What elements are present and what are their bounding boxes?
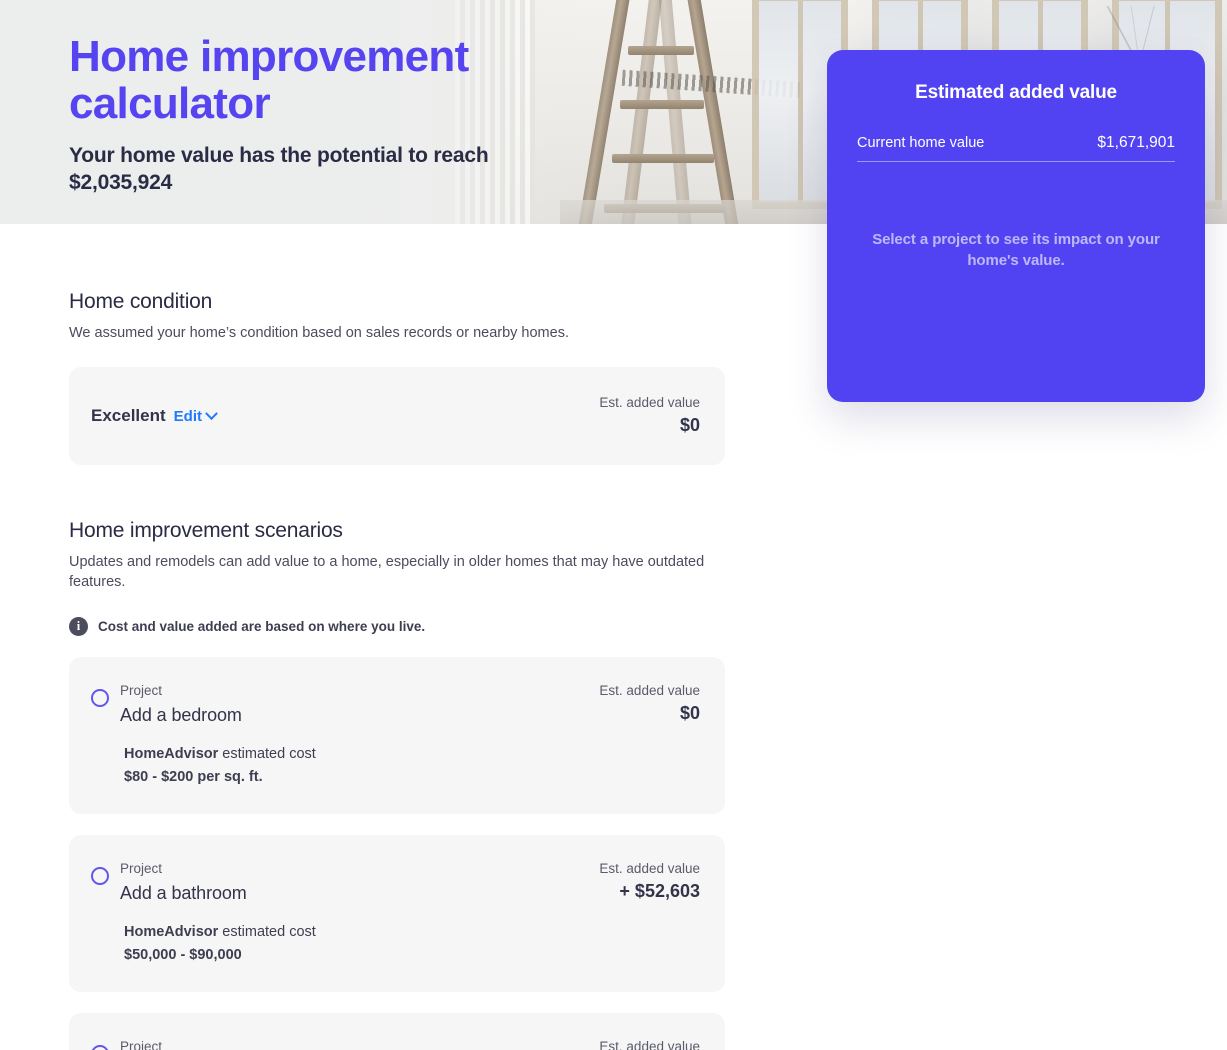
project-value-block: Est. added value $0 <box>599 683 700 724</box>
home-condition-value-block: Est. added value $0 <box>599 395 700 436</box>
project-identity: Project Add a bedroom <box>91 683 242 726</box>
est-added-value-label: Est. added value <box>599 1039 700 1050</box>
summary-empty-state-hint: Select a project to see its impact on yo… <box>857 229 1175 272</box>
edit-condition-label: Edit <box>174 408 202 425</box>
project-card[interactable]: Project Add a bathroom Est. added value … <box>69 835 725 992</box>
cost-source: HomeAdvisor <box>124 924 218 940</box>
home-improvement-calculator-page: Home improvement calculator Your home va… <box>0 0 1227 1050</box>
project-cost-range: $80 - $200 per sq. ft. <box>124 767 700 788</box>
project-name: Add a bedroom <box>120 705 242 726</box>
project-value-block: Est. added value $0 <box>599 1039 700 1050</box>
project-identity: Project Add a bathroom <box>91 861 247 904</box>
project-card[interactable]: Project Add a bedroom Est. added value $… <box>69 657 725 814</box>
chevron-down-icon <box>205 407 218 420</box>
home-condition-section: Home condition We assumed your home’s co… <box>69 290 725 465</box>
project-name: Add a bathroom <box>120 883 247 904</box>
scenarios-subtext: Updates and remodels can add value to a … <box>69 552 719 593</box>
current-home-value-row: Current home value $1,671,901 <box>857 134 1175 162</box>
home-condition-heading: Home condition <box>69 290 725 314</box>
project-kicker: Project <box>120 1039 275 1050</box>
project-cost-range: $50,000 - $90,000 <box>124 945 700 966</box>
project-cost: HomeAdvisor estimated cost $50,000 - $90… <box>124 922 700 966</box>
home-condition-value: Excellent <box>91 406 166 426</box>
current-home-value-amount: $1,671,901 <box>1097 134 1175 152</box>
scenarios-note: i Cost and value added are based on wher… <box>69 617 725 636</box>
project-list: Project Add a bedroom Est. added value $… <box>69 657 725 1050</box>
current-home-value-label: Current home value <box>857 135 984 151</box>
home-condition-value-group: Excellent Edit <box>91 406 216 426</box>
project-kicker: Project <box>120 683 242 699</box>
hero-text-block: Home improvement calculator Your home va… <box>69 34 539 197</box>
project-kicker: Project <box>120 861 247 877</box>
home-condition-card[interactable]: Excellent Edit Est. added value $0 <box>69 367 725 465</box>
scenarios-note-text: Cost and value added are based on where … <box>98 619 425 634</box>
project-card-header: Project Add a bedroom Est. added value $… <box>91 683 700 726</box>
cost-source-suffix: estimated cost <box>218 924 316 940</box>
scenarios-heading: Home improvement scenarios <box>69 519 725 543</box>
project-card-header: Project Add a bathroom Est. added value … <box>91 861 700 904</box>
est-added-value-amount: + $52,603 <box>599 881 700 902</box>
edit-condition-button[interactable]: Edit <box>174 408 216 425</box>
est-added-value-amount: $0 <box>599 703 700 724</box>
project-card-header: Project Add square footage Est. added va… <box>91 1039 700 1050</box>
project-radio-button[interactable] <box>91 1045 109 1050</box>
project-identity: Project Add square footage <box>91 1039 275 1050</box>
project-radio-button[interactable] <box>91 867 109 885</box>
home-improvement-scenarios-section: Home improvement scenarios Updates and r… <box>69 519 725 1050</box>
est-added-value-amount: $0 <box>599 415 700 436</box>
estimated-added-value-card: Estimated added value Current home value… <box>827 50 1205 402</box>
est-added-value-label: Est. added value <box>599 861 700 876</box>
info-icon: i <box>69 617 88 636</box>
page-title: Home improvement calculator <box>69 34 539 127</box>
project-radio-button[interactable] <box>91 689 109 707</box>
hero-subtitle: Your home value has the potential to rea… <box>69 143 539 197</box>
est-added-value-label: Est. added value <box>599 683 700 698</box>
home-condition-subtext: We assumed your home’s condition based o… <box>69 323 725 344</box>
est-added-value-label: Est. added value <box>599 395 700 410</box>
project-value-block: Est. added value + $52,603 <box>599 861 700 902</box>
cost-source: HomeAdvisor <box>124 746 218 762</box>
project-card[interactable]: Project Add square footage Est. added va… <box>69 1013 725 1050</box>
project-cost: HomeAdvisor estimated cost $80 - $200 pe… <box>124 744 700 788</box>
summary-card-title: Estimated added value <box>857 82 1175 104</box>
main-content: Home condition We assumed your home’s co… <box>69 290 725 1050</box>
cost-source-suffix: estimated cost <box>218 746 316 762</box>
